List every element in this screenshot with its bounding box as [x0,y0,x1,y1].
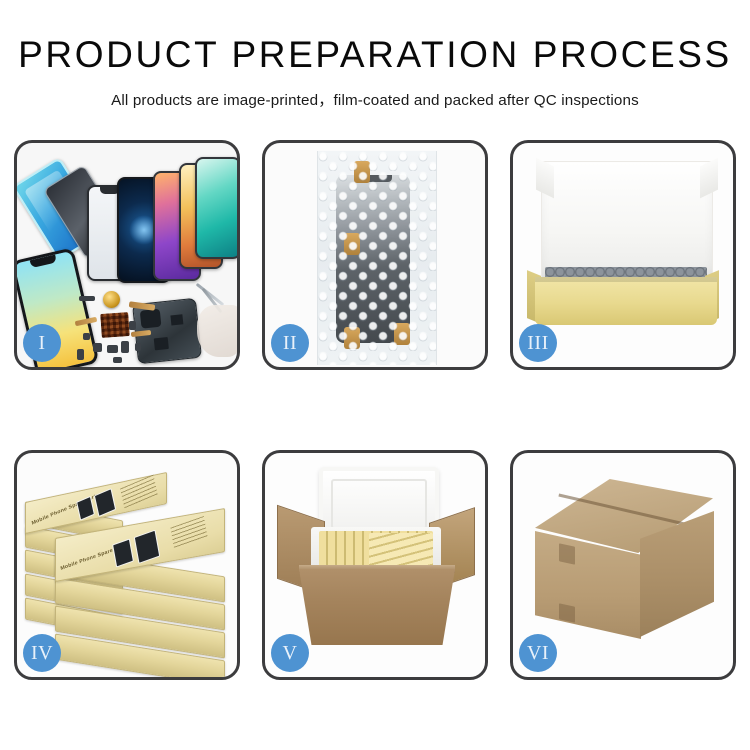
step-badge-2: II [271,324,309,362]
step-panel-3[interactable]: III [510,140,736,370]
technician-hand [197,305,237,357]
step-panel-5[interactable]: V [262,450,488,680]
step-panel-4[interactable]: Mobile Phone Spare Parts Mobile Phone Sp… [14,450,240,680]
box-window-image [134,530,161,564]
small-part [135,343,141,351]
shipping-carton-body [299,569,455,645]
phone-display-teal [195,157,237,259]
step-badge-6: VI [519,634,557,672]
step-panel-6[interactable]: VI [510,450,736,680]
small-part [121,341,129,353]
step-panel-2[interactable]: II [262,140,488,370]
bubble-texture [318,151,436,365]
small-part [83,333,90,340]
small-part [107,345,118,353]
packed-boxes-row [369,533,433,569]
step-badge-3: III [519,324,557,362]
small-part [129,321,136,330]
page-header: PRODUCT PREPARATION PROCESS All products… [0,0,750,110]
small-part [79,296,95,301]
page-title: PRODUCT PREPARATION PROCESS [0,36,750,75]
tweezers-tool [196,283,225,306]
bubble-wrap-bag [317,151,437,365]
step-badge-4: IV [23,634,61,672]
step-badge-1: I [23,324,61,362]
small-part [77,349,84,360]
box-window-image [112,538,134,567]
step-badge-5: V [271,634,309,672]
box-spec-lines [170,516,207,549]
process-step-grid: I II III [14,140,738,680]
chip-array-part [100,312,130,338]
page-subtitle: All products are image-printed，film-coat… [0,88,750,110]
box-spec-lines [120,475,158,510]
small-part [93,343,102,352]
box-lid-flap [541,161,713,279]
carton-handle-tab [559,603,575,622]
carton-handle-tab [559,543,575,564]
inner-box-body [535,277,717,325]
step-panel-1[interactable]: I [14,140,240,370]
copper-coil-part [103,291,120,308]
small-part [113,357,122,363]
